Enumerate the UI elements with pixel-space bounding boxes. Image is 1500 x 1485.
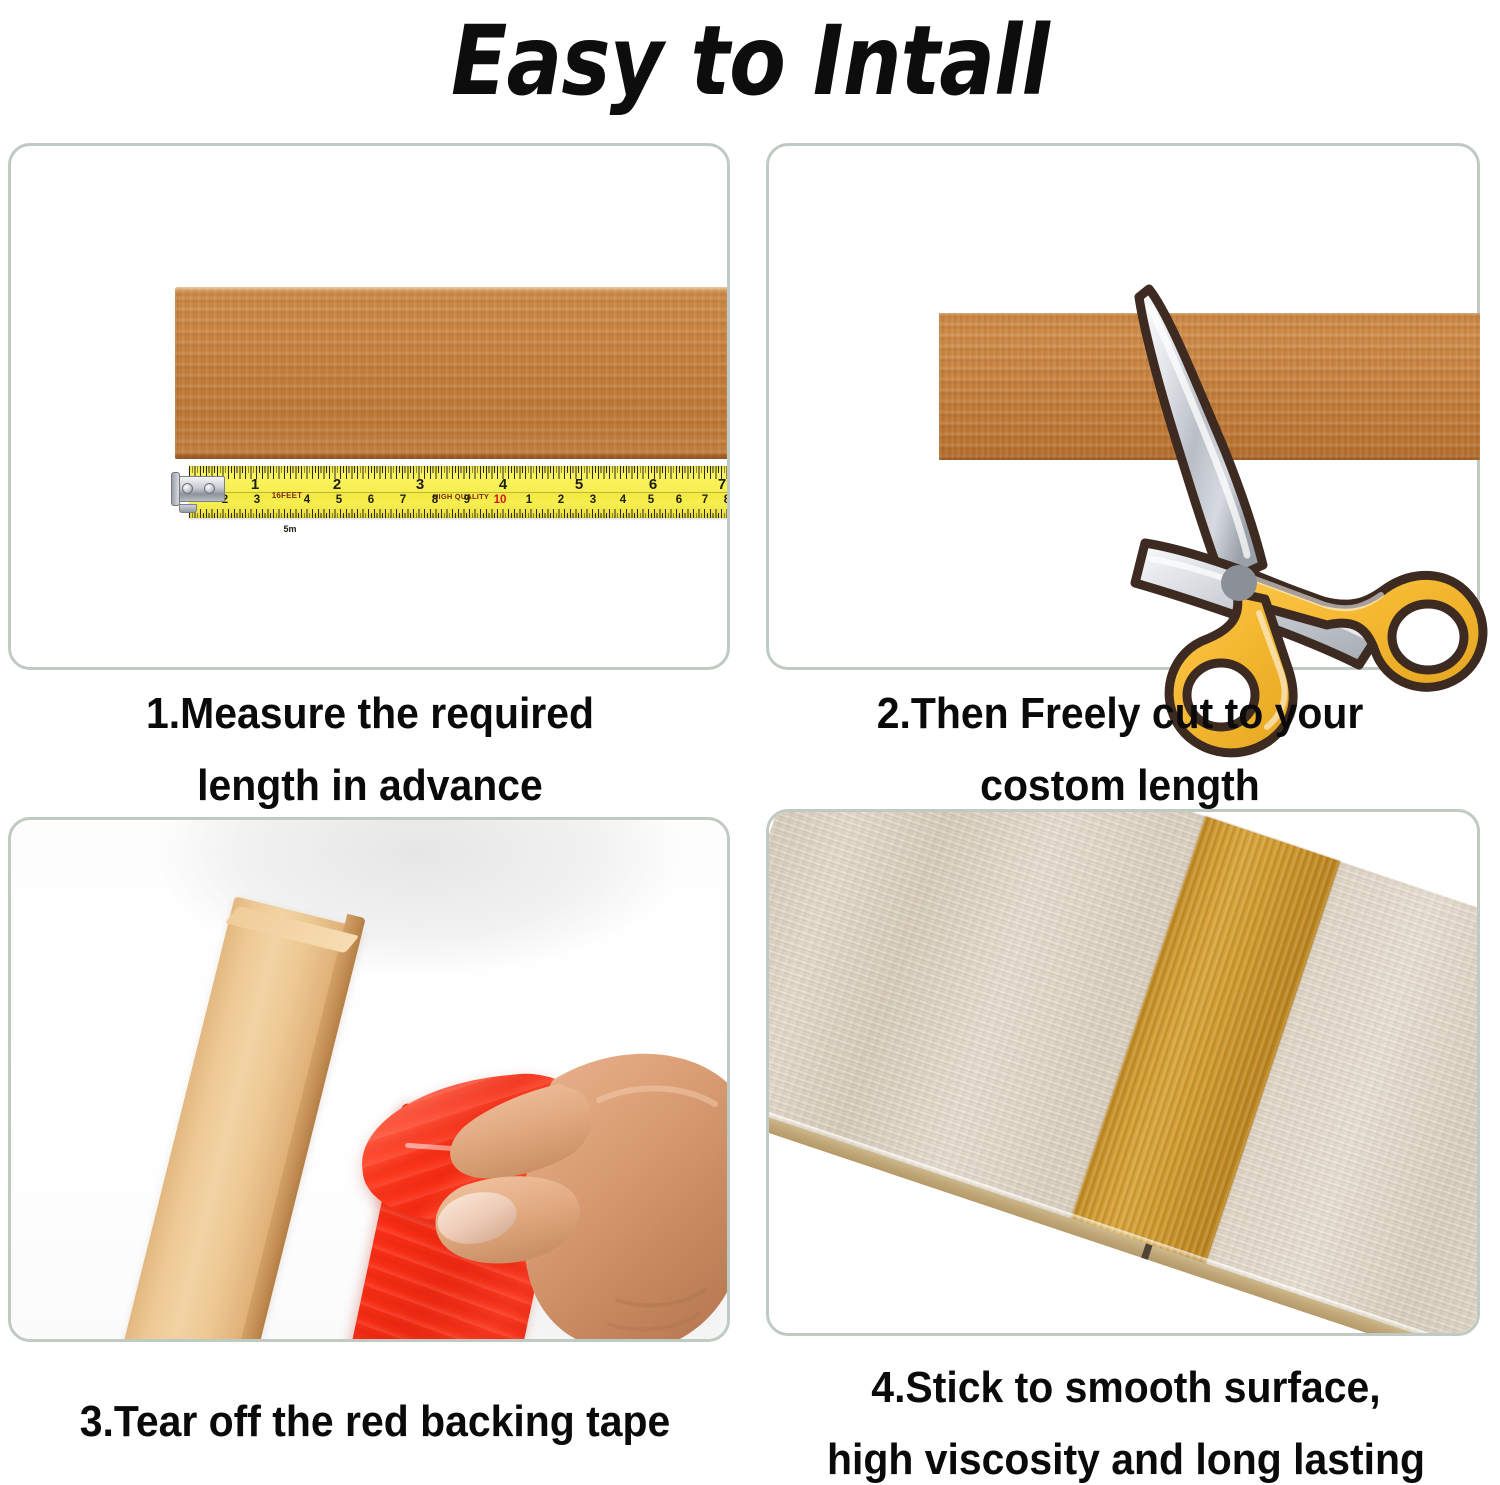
tape-inch-label: 1 — [251, 477, 259, 492]
tape-inch-label: 4 — [499, 477, 507, 492]
step-3-panel — [8, 817, 730, 1342]
tick-marks-bottom-fine — [189, 513, 727, 518]
scissors-icon — [1137, 283, 1497, 698]
hook-lip — [171, 472, 180, 506]
tape-measure-end-hook — [171, 470, 227, 510]
tape-cm-label: 7 — [702, 495, 708, 507]
step-1-panel: 1 2 3 4 5 6 7 16FEET HIGH QUALITY 2 3 4 — [8, 143, 730, 670]
tape-inch-label: 2 — [333, 477, 341, 492]
tape-measure: 1 2 3 4 5 6 7 16FEET HIGH QUALITY 2 3 4 — [171, 466, 727, 524]
step-3-caption: 3.Tear off the red backing tape — [45, 1386, 705, 1458]
tape-cm-label: 8 — [432, 495, 438, 507]
caption-line: 3.Tear off the red backing tape — [45, 1386, 705, 1458]
tape-cm-label: 3 — [590, 495, 596, 507]
tape-inch-label: 3 — [416, 477, 424, 492]
hook-rivet — [204, 483, 215, 494]
hook-tail — [179, 504, 197, 513]
step-3-image — [11, 820, 727, 1339]
hook-rivet — [182, 483, 193, 494]
caption-line: length in advance — [63, 750, 677, 822]
tape-cm-label: 1 — [526, 495, 532, 507]
tape-cm-label: 5 — [648, 495, 654, 507]
tape-inch-label: 7 — [718, 477, 726, 492]
trim-strip-adhesive-side — [109, 896, 361, 1339]
caption-line: 4.Stick to smooth surface, — [801, 1352, 1452, 1424]
tape-inch-label: 6 — [649, 477, 657, 492]
step-2-panel — [766, 143, 1480, 670]
step-4-panel — [766, 809, 1480, 1336]
step-1-image: 1 2 3 4 5 6 7 16FEET HIGH QUALITY 2 3 4 — [11, 146, 727, 667]
tape-brand-5m: 5m — [282, 525, 297, 534]
photo-background — [11, 820, 727, 1339]
caption-line: high viscosity and long lasting — [801, 1424, 1452, 1485]
caption-line: 1.Measure the required — [63, 678, 677, 750]
step-4-caption: 4.Stick to smooth surface, high viscosit… — [801, 1352, 1452, 1485]
scissors-pivot — [1221, 565, 1257, 601]
tape-cm-label: 6 — [676, 495, 682, 507]
step-2-caption: 2.Then Freely cut to your costom length — [813, 678, 1427, 822]
easy-to-install-infographic: Easy to Intall 1 2 3 4 5 — [0, 0, 1500, 1485]
light-wood-board — [769, 812, 1477, 1333]
tick-marks-top-fine — [189, 466, 727, 473]
tape-cm-label: 4 — [620, 495, 626, 507]
tape-cm-label: 8 — [724, 495, 727, 507]
page-title: Easy to Intall — [105, 2, 1395, 120]
photo-background — [769, 812, 1477, 1333]
caption-line: costom length — [813, 750, 1427, 822]
tape-cm-label: 2 — [558, 495, 564, 507]
scissors-blade-upper — [1139, 289, 1263, 583]
step-4-image — [769, 812, 1477, 1333]
tape-cm-label: 9 — [464, 495, 470, 507]
tape-cm-label-10: 10 — [494, 495, 507, 507]
tape-cm-label: 4 — [304, 495, 310, 507]
tape-cm-label: 7 — [400, 495, 406, 507]
caption-line: 2.Then Freely cut to your — [813, 678, 1427, 750]
tape-cm-label: 5 — [336, 495, 342, 507]
tape-cm-label: 3 — [254, 495, 260, 507]
tape-cm-scale: 2 3 4 5 6 7 8 9 10 1 2 3 4 5 6 — [189, 495, 727, 509]
tape-inch-label: 5 — [575, 477, 583, 492]
tape-inch-scale: 1 2 3 4 5 6 7 16FEET HIGH QUALITY — [189, 477, 727, 493]
step-1-caption: 1.Measure the required length in advance — [63, 678, 677, 822]
hand-icon — [403, 980, 727, 1339]
tape-measure-blade: 1 2 3 4 5 6 7 16FEET HIGH QUALITY 2 3 4 — [189, 466, 727, 518]
wood-trim-strip — [175, 287, 727, 459]
tape-cm-label: 6 — [368, 495, 374, 507]
